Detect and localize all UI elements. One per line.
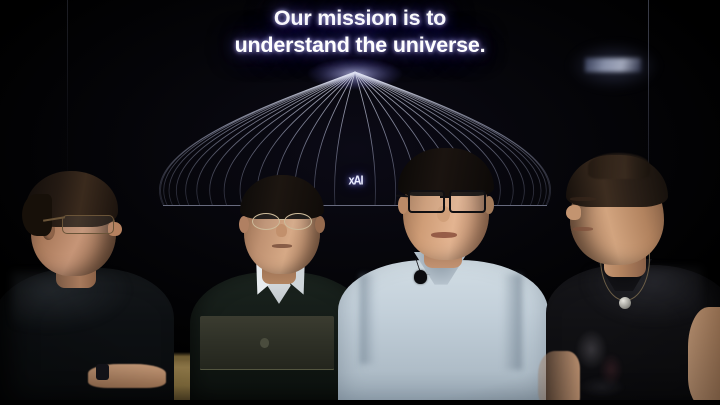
panelist-3-hair bbox=[398, 148, 494, 196]
panelist-2-ear-right bbox=[315, 216, 325, 233]
panelist-2-ear-left bbox=[239, 216, 249, 233]
panelist-1 bbox=[0, 168, 190, 405]
panelist-3 bbox=[352, 148, 542, 405]
panelist-2-glasses-bridge bbox=[278, 219, 285, 220]
panelist-3-mouth bbox=[431, 232, 457, 238]
video-frame: Our mission is to understand the univers… bbox=[0, 0, 720, 405]
slide-title-line-2: understand the universe. bbox=[0, 32, 720, 59]
panelist-4-hair-highlight bbox=[588, 153, 650, 179]
panelist-3-fabric-fold-left bbox=[360, 274, 376, 364]
panelist-3-glasses-lens-right bbox=[449, 190, 486, 213]
xai-logo-icon: xAI bbox=[348, 174, 363, 189]
panelist-3-glasses-lens-left bbox=[408, 190, 445, 213]
panelist-4-mouth bbox=[573, 227, 593, 231]
panelist-2-mouth bbox=[272, 244, 292, 248]
panelist-1-wristwatch bbox=[96, 364, 109, 380]
panelist-2-glasses-lens-right bbox=[284, 213, 312, 230]
xai-logo-text: xAI bbox=[348, 175, 362, 188]
letterbox-bottom bbox=[0, 400, 720, 405]
panelist-4-arm-right bbox=[688, 307, 720, 405]
panelist-4-nose bbox=[566, 205, 581, 220]
panelist-1-sideburn bbox=[22, 194, 52, 236]
panelist-4-ear bbox=[636, 205, 648, 225]
panelist-3-ear-left bbox=[398, 196, 408, 214]
panelist-3-glasses-bridge bbox=[440, 196, 450, 198]
ceiling-light-reflection bbox=[585, 58, 641, 72]
necklace-pendant bbox=[619, 297, 631, 309]
apple-logo-icon bbox=[260, 338, 269, 348]
slide-title-line-1: Our mission is to bbox=[274, 6, 446, 30]
panelist-1-glasses-icon bbox=[62, 215, 114, 234]
panelist-3-fabric-fold-right bbox=[502, 274, 522, 370]
panelist-3-glasses-temple bbox=[396, 195, 410, 198]
lavalier-microphone-icon bbox=[414, 270, 427, 284]
panelist-4-arm-left bbox=[538, 351, 580, 405]
panelist-2-hair bbox=[240, 175, 324, 219]
panelist-2-glasses-lens-left bbox=[252, 213, 280, 230]
panelist-4 bbox=[540, 155, 720, 405]
panelist-4-brow bbox=[570, 197, 596, 201]
slide-title: Our mission is to understand the univers… bbox=[0, 5, 720, 60]
